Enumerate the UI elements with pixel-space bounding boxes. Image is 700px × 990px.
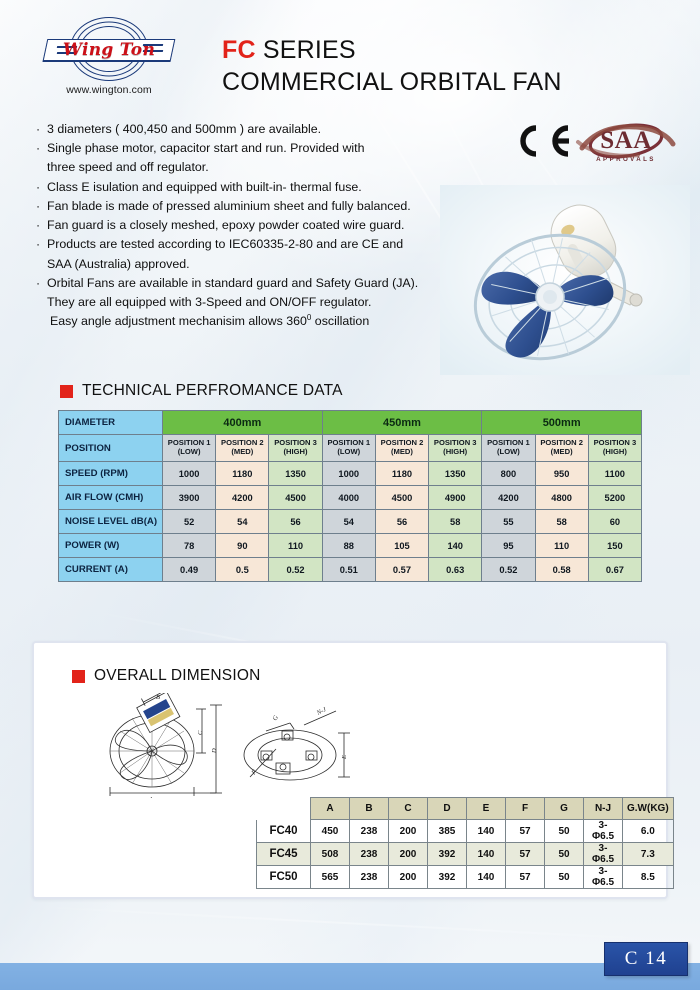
data-cell: 4500 xyxy=(269,486,322,510)
saa-mark: SAA APPROVALS xyxy=(574,120,678,163)
data-cell: 6.0 xyxy=(623,820,674,843)
data-cell: 110 xyxy=(535,534,588,558)
position-header-cell: POSITION 2(MED) xyxy=(375,435,428,462)
data-cell: 200 xyxy=(389,820,428,843)
column-header: A xyxy=(311,798,350,820)
title-series-code: FC xyxy=(222,36,256,64)
data-cell: 1180 xyxy=(216,462,269,486)
table-row: CURRENT (A) 0.49 0.5 0.52 0.51 0.57 0.63… xyxy=(59,558,642,582)
data-cell: 150 xyxy=(588,534,641,558)
column-header: G xyxy=(545,798,584,820)
list-item: · Single phase motor, capacitor start an… xyxy=(36,139,506,158)
certification-marks: SAA APPROVALS xyxy=(512,120,677,176)
bullet-icon: · xyxy=(36,235,47,254)
data-cell: 105 xyxy=(375,534,428,558)
position-header-cell: POSITION 1(LOW) xyxy=(482,435,535,462)
title-line-1: FC SERIES xyxy=(222,36,562,65)
data-cell: 508 xyxy=(311,843,350,866)
data-cell: 110 xyxy=(269,534,322,558)
bullet-icon: · xyxy=(36,274,47,293)
data-cell: 4200 xyxy=(216,486,269,510)
row-label: NOISE LEVEL dB(A) xyxy=(59,510,163,534)
table-row: AIR FLOW (CMH) 3900 4200 4500 4000 4500 … xyxy=(59,486,642,510)
bullet-icon: · xyxy=(36,178,47,197)
data-cell: 140 xyxy=(467,866,506,889)
table-row: POWER (W) 78 90 110 88 105 140 95 110 15… xyxy=(59,534,642,558)
list-item: · Class E isulation and equipped with bu… xyxy=(36,178,506,197)
table-row-diameter: DIAMETER 400mm 450mm 500mm xyxy=(59,411,642,435)
data-cell: 0.57 xyxy=(375,558,428,582)
page-number-badge: C 14 xyxy=(604,942,688,976)
bullet-icon: · xyxy=(36,197,47,216)
feature-text: Single phase motor, capacitor start and … xyxy=(47,139,506,158)
table-row: FC40 450 238 200 385 140 57 50 3-Φ6.5 6.… xyxy=(257,820,674,843)
data-cell: 56 xyxy=(269,510,322,534)
list-item: · Orbital Fans are available in standard… xyxy=(36,274,506,293)
data-cell: 238 xyxy=(350,820,389,843)
column-header: E xyxy=(467,798,506,820)
data-cell: 8.5 xyxy=(623,866,674,889)
wing-ton-logo-mark: Wing Ton xyxy=(43,16,175,82)
data-cell: 1000 xyxy=(322,462,375,486)
data-cell: 200 xyxy=(389,866,428,889)
data-cell: 60 xyxy=(588,510,641,534)
page-title: FC SERIES COMMERCIAL ORBITAL FAN xyxy=(222,36,562,97)
position-header-cell: POSITION 1(LOW) xyxy=(322,435,375,462)
data-cell: 78 xyxy=(163,534,216,558)
title-line-2: COMMERCIAL ORBITAL FAN xyxy=(222,67,562,97)
data-cell: 58 xyxy=(429,510,482,534)
dim-label-E: E xyxy=(341,755,348,760)
data-cell: 1000 xyxy=(163,462,216,486)
data-cell: 3-Φ6.5 xyxy=(584,866,623,889)
page-number: C 14 xyxy=(625,948,667,970)
column-header: F xyxy=(506,798,545,820)
data-cell: 7.3 xyxy=(623,843,674,866)
data-cell: 3-Φ6.5 xyxy=(584,820,623,843)
column-header: G.W(KG) xyxy=(623,798,674,820)
data-cell: 52 xyxy=(163,510,216,534)
oscillation-text-post: oscillation xyxy=(311,314,369,328)
data-cell: 88 xyxy=(322,534,375,558)
data-cell: 4000 xyxy=(322,486,375,510)
data-cell: 3-Φ6.5 xyxy=(584,843,623,866)
data-cell: 1180 xyxy=(375,462,428,486)
data-cell: 3900 xyxy=(163,486,216,510)
data-cell: 5200 xyxy=(588,486,641,510)
data-cell: 200 xyxy=(389,843,428,866)
column-header: C xyxy=(389,798,428,820)
data-cell: 140 xyxy=(467,820,506,843)
dim-label-G: G xyxy=(272,714,281,722)
data-cell: 1350 xyxy=(269,462,322,486)
feature-text-oscillation: Easy angle adjustment mechanisim allows … xyxy=(36,312,506,331)
brand-website: www.wington.com xyxy=(34,84,184,96)
row-label: DIAMETER xyxy=(59,411,163,435)
feature-text: Fan guard is a closely meshed, epoxy pow… xyxy=(47,216,506,235)
bullet-icon: · xyxy=(36,139,47,158)
dimension-section-heading: OVERALL DIMENSION xyxy=(72,667,260,685)
bullet-icon: · xyxy=(36,120,47,139)
data-cell: 0.52 xyxy=(482,558,535,582)
data-cell: 4900 xyxy=(429,486,482,510)
dim-label-A: A xyxy=(148,796,153,798)
table-row: FC50 565 238 200 392 140 57 50 3-Φ6.5 8.… xyxy=(257,866,674,889)
data-cell: 140 xyxy=(429,534,482,558)
position-header-cell: POSITION 3(HIGH) xyxy=(269,435,322,462)
row-label: CURRENT (A) xyxy=(59,558,163,582)
row-label: SPEED (RPM) xyxy=(59,462,163,486)
data-cell: 0.67 xyxy=(588,558,641,582)
data-cell: 0.58 xyxy=(535,558,588,582)
technical-drawings: A C D B G N-J E F B xyxy=(90,693,400,798)
feature-text-continued: SAA (Australia) approved. xyxy=(36,255,506,274)
data-cell: 0.49 xyxy=(163,558,216,582)
data-cell: 238 xyxy=(350,843,389,866)
feature-text-continued: They are all equipped with 3-Speed and O… xyxy=(36,293,506,312)
dim-label-B-top: B xyxy=(156,694,160,701)
data-cell: 950 xyxy=(535,462,588,486)
dim-label-C: C xyxy=(197,730,204,735)
position-header-cell: POSITION 2(MED) xyxy=(216,435,269,462)
dimension-table: A B C D E F G N-J G.W(KG) FC40 450 238 2… xyxy=(256,797,674,889)
data-cell: 54 xyxy=(216,510,269,534)
model-name: FC45 xyxy=(257,843,311,866)
footer-band xyxy=(0,963,700,990)
section-marker-icon xyxy=(60,385,73,398)
ce-mark-icon xyxy=(512,124,572,158)
data-cell: 50 xyxy=(545,820,584,843)
data-cell: 140 xyxy=(467,843,506,866)
table-row-position: POSITION POSITION 1(LOW) POSITION 2(MED)… xyxy=(59,435,642,462)
data-cell: 55 xyxy=(482,510,535,534)
oscillation-text-pre: Easy angle adjustment mechanisim allows … xyxy=(50,314,307,328)
section-title: TECHNICAL PERFROMANCE DATA xyxy=(82,382,343,400)
technical-section-heading: TECHNICAL PERFROMANCE DATA xyxy=(60,382,343,400)
feature-text: 3 diameters ( 400,450 and 500mm ) are av… xyxy=(47,120,506,139)
data-cell: 54 xyxy=(322,510,375,534)
position-header-cell: POSITION 3(HIGH) xyxy=(429,435,482,462)
data-cell: 4800 xyxy=(535,486,588,510)
data-cell: 0.51 xyxy=(322,558,375,582)
background-streak xyxy=(20,905,679,942)
row-label: POWER (W) xyxy=(59,534,163,558)
feature-text-continued: three speed and off regulator. xyxy=(36,158,506,177)
brand-logo: Wing Ton www.wington.com xyxy=(34,16,184,96)
data-cell: 1350 xyxy=(429,462,482,486)
dim-label-D: D xyxy=(211,748,218,754)
data-cell: 4200 xyxy=(482,486,535,510)
data-cell: 4500 xyxy=(375,486,428,510)
column-header: D xyxy=(428,798,467,820)
data-cell: 1100 xyxy=(588,462,641,486)
data-cell: 50 xyxy=(545,843,584,866)
list-item: · Fan blade is made of pressed aluminium… xyxy=(36,197,506,216)
column-header: N-J xyxy=(584,798,623,820)
column-header: B xyxy=(350,798,389,820)
data-cell: 56 xyxy=(375,510,428,534)
position-header-cell: POSITION 2(MED) xyxy=(535,435,588,462)
section-marker-icon xyxy=(72,670,85,683)
data-cell: 0.63 xyxy=(429,558,482,582)
feature-text: Fan blade is made of pressed aluminium s… xyxy=(47,197,506,216)
row-label: AIR FLOW (CMH) xyxy=(59,486,163,510)
data-cell: 450 xyxy=(311,820,350,843)
data-cell: 57 xyxy=(506,866,545,889)
list-item: · Products are tested according to IEC60… xyxy=(36,235,506,254)
feature-text: Class E isulation and equipped with buil… xyxy=(47,178,506,197)
row-label: POSITION xyxy=(59,435,163,462)
data-cell: 95 xyxy=(482,534,535,558)
table-row: FC45 508 238 200 392 140 57 50 3-Φ6.5 7.… xyxy=(257,843,674,866)
title-series-word: SERIES xyxy=(256,36,356,64)
data-cell: 392 xyxy=(428,866,467,889)
column-header-model xyxy=(257,798,311,820)
diameter-group-450: 450mm xyxy=(322,411,482,435)
saa-label: SAA xyxy=(574,120,678,153)
table-header-row: A B C D E F G N-J G.W(KG) xyxy=(257,798,674,820)
data-cell: 392 xyxy=(428,843,467,866)
overall-dimension-panel: OVERALL DIMENSION xyxy=(32,641,668,899)
technical-performance-table: DIAMETER 400mm 450mm 500mm POSITION POSI… xyxy=(58,410,642,582)
feature-text: Orbital Fans are available in standard g… xyxy=(47,274,506,293)
model-name: FC40 xyxy=(257,820,311,843)
diameter-group-500: 500mm xyxy=(482,411,642,435)
data-cell: 385 xyxy=(428,820,467,843)
table-row: NOISE LEVEL dB(A) 52 54 56 54 56 58 55 5… xyxy=(59,510,642,534)
position-header-cell: POSITION 3(HIGH) xyxy=(588,435,641,462)
logo-wordmark: Wing Ton xyxy=(43,40,175,60)
product-photo xyxy=(440,185,690,375)
data-cell: 50 xyxy=(545,866,584,889)
diameter-group-400: 400mm xyxy=(163,411,323,435)
data-cell: 0.5 xyxy=(216,558,269,582)
feature-list: · 3 diameters ( 400,450 and 500mm ) are … xyxy=(36,120,506,332)
list-item: · 3 diameters ( 400,450 and 500mm ) are … xyxy=(36,120,506,139)
section-title: OVERALL DIMENSION xyxy=(94,667,260,685)
data-cell: 0.52 xyxy=(269,558,322,582)
bullet-icon: · xyxy=(36,216,47,235)
data-cell: 58 xyxy=(535,510,588,534)
data-cell: 57 xyxy=(506,820,545,843)
feature-text: Products are tested according to IEC6033… xyxy=(47,235,506,254)
model-name: FC50 xyxy=(257,866,311,889)
list-item: · Fan guard is a closely meshed, epoxy p… xyxy=(36,216,506,235)
position-header-cell: POSITION 1(LOW) xyxy=(163,435,216,462)
data-cell: 90 xyxy=(216,534,269,558)
data-cell: 800 xyxy=(482,462,535,486)
data-cell: 238 xyxy=(350,866,389,889)
table-row: SPEED (RPM) 1000 1180 1350 1000 1180 135… xyxy=(59,462,642,486)
data-cell: 565 xyxy=(311,866,350,889)
data-cell: 57 xyxy=(506,843,545,866)
